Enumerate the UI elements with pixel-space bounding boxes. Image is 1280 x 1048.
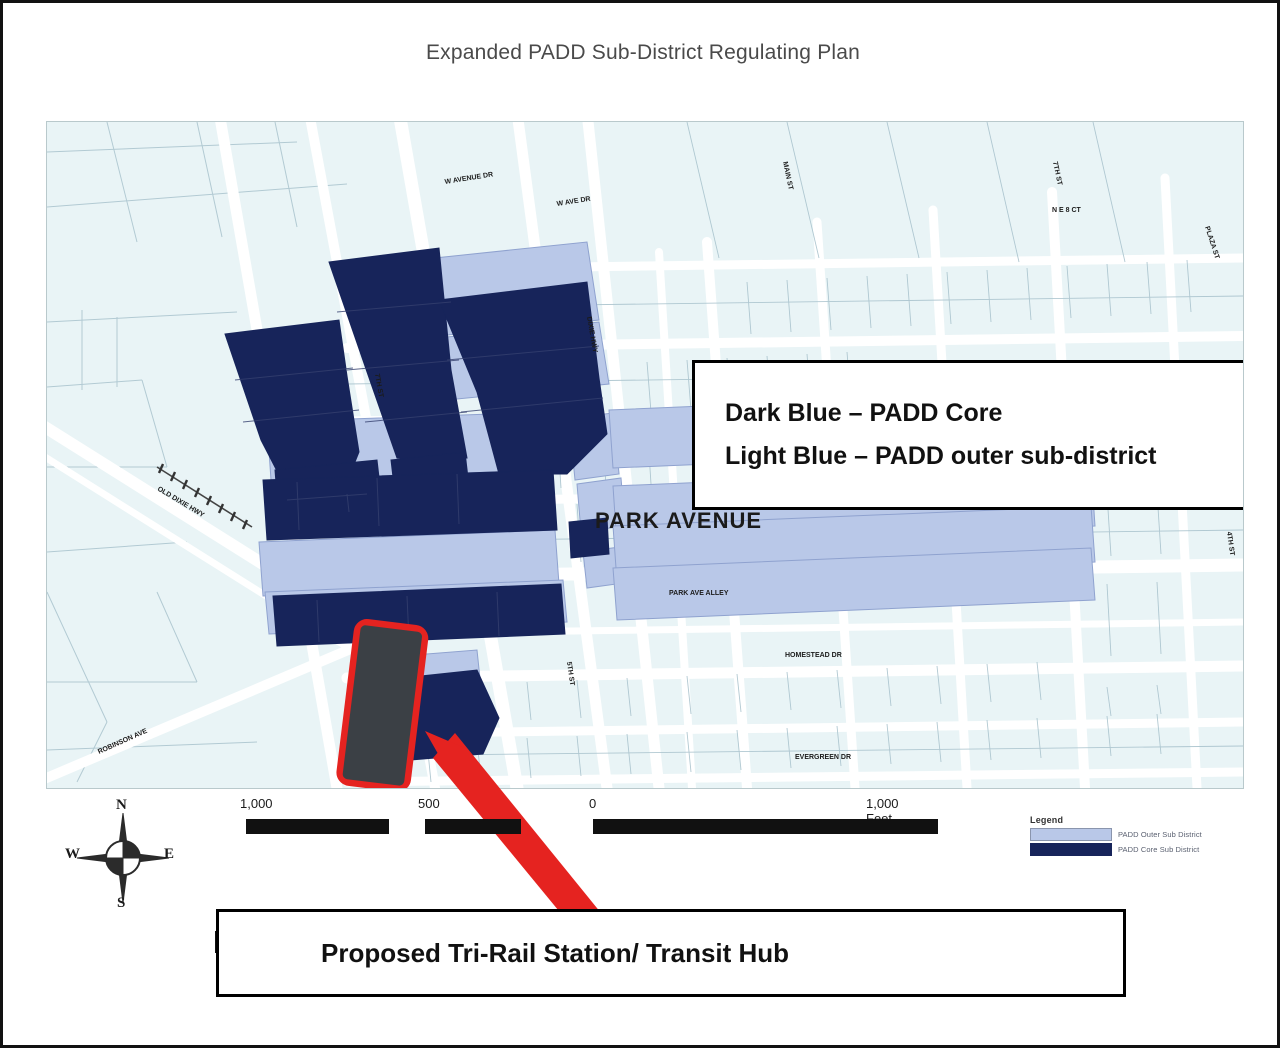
compass-south-label: S: [117, 895, 125, 912]
legend-callout-box: Dark Blue – PADD Core Light Blue – PADD …: [692, 360, 1244, 510]
svg-text:HOMESTEAD DR: HOMESTEAD DR: [785, 652, 842, 659]
map-canvas[interactable]: W AVENUE DR W AVE DR DIXIE HWY OLD DIXIE…: [46, 121, 1244, 789]
page-title: Expanded PADD Sub-District Regulating Pl…: [3, 41, 1280, 65]
legend-swatch-outer-label: PADD Outer Sub District: [1118, 830, 1202, 839]
map-legend-row-core: PADD Core Sub District: [1030, 843, 1220, 856]
legend-swatch-outer: [1030, 828, 1112, 841]
scale-label-zero: 0: [589, 796, 596, 811]
compass-east-label: E: [164, 846, 174, 863]
legend-swatch-core-label: PADD Core Sub District: [1118, 845, 1199, 854]
transit-hub-callout-box: Proposed Tri-Rail Station/ Transit Hub: [216, 909, 1126, 997]
scale-label-left-1000: 1,000: [240, 796, 273, 811]
map-page: Expanded PADD Sub-District Regulating Pl…: [0, 0, 1280, 1048]
map-legend-block: Legend PADD Outer Sub District PADD Core…: [1030, 815, 1220, 871]
map-legend-title: Legend: [1030, 815, 1220, 825]
svg-text:EVERGREEN DR: EVERGREEN DR: [795, 754, 851, 761]
legend-light-blue-line: Light Blue – PADD outer sub-district: [725, 444, 1244, 469]
scale-bar: 1,000 500 0 1,000 Feet: [218, 796, 938, 844]
legend-dark-blue-line: Dark Blue – PADD Core: [725, 401, 1244, 426]
compass-rose: N S W E: [63, 799, 183, 917]
map-legend-row-outer: PADD Outer Sub District: [1030, 828, 1220, 841]
legend-swatch-core: [1030, 843, 1112, 856]
scale-bar-segments: [218, 819, 938, 834]
compass-west-label: W: [65, 846, 80, 863]
transit-hub-callout-label: Proposed Tri-Rail Station/ Transit Hub: [321, 938, 789, 969]
compass-north-label: N: [116, 797, 127, 814]
transit-hub-highlight[interactable]: [342, 625, 422, 786]
svg-text:N E 8 CT: N E 8 CT: [1052, 207, 1082, 214]
svg-text:PARK AVE ALLEY: PARK AVE ALLEY: [669, 590, 729, 597]
scale-label-500: 500: [418, 796, 440, 811]
